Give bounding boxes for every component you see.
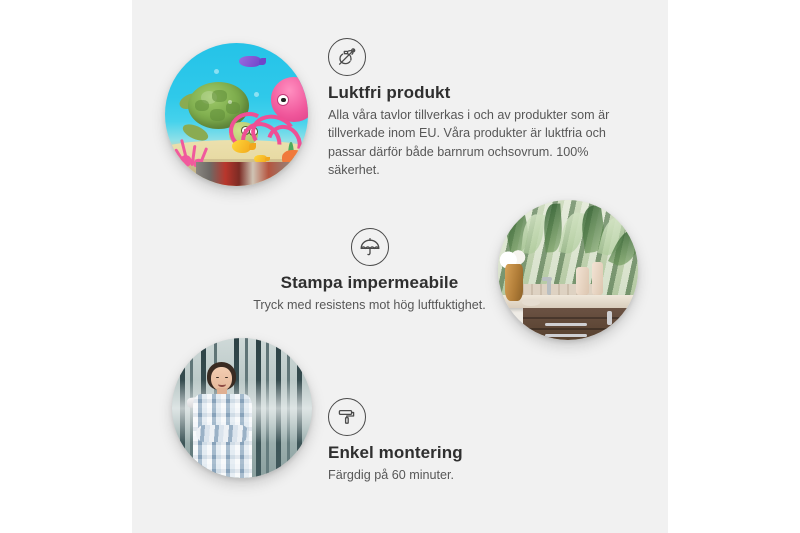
feature-title: Stampa impermeabile [217,273,522,293]
content-panel: Luktfri produkt Alla våra tavlor tillver… [132,0,668,533]
feature-title: Luktfri produkt [328,83,628,103]
product-feature-infographic: Luktfri produkt Alla våra tavlor tillver… [0,0,800,533]
sea-scene [165,43,308,186]
cabinet [523,308,638,340]
feature-title: Enkel montering [328,443,563,463]
product-image-sea [165,43,308,186]
feature-body: Tryck med resistens mot hög luftfuktighe… [217,296,522,314]
feature-waterproof: Stampa impermeabile Tryck med resistens … [217,228,522,314]
feature-easy-install: Enkel montering Färgdig på 60 minuter. [328,398,563,484]
bottle-icon [576,267,589,295]
fish-purple-icon [239,56,260,67]
feature-odorless: Luktfri produkt Alla våra tavlor tillver… [328,38,628,179]
person-arms [196,425,249,442]
fish-yellow-icon [232,140,251,153]
paint-roller-icon [328,398,366,436]
feature-body: Alla våra tavlor tillverkas i och av pro… [328,106,628,179]
no-fragrance-icon [328,38,366,76]
product-image-forest [172,338,312,478]
faucet-icon [547,277,551,295]
umbrella-icon [351,228,389,266]
forest-scene [172,338,312,478]
feature-body: Färgdig på 60 minuter. [328,466,563,484]
bottle-icon [592,262,603,296]
